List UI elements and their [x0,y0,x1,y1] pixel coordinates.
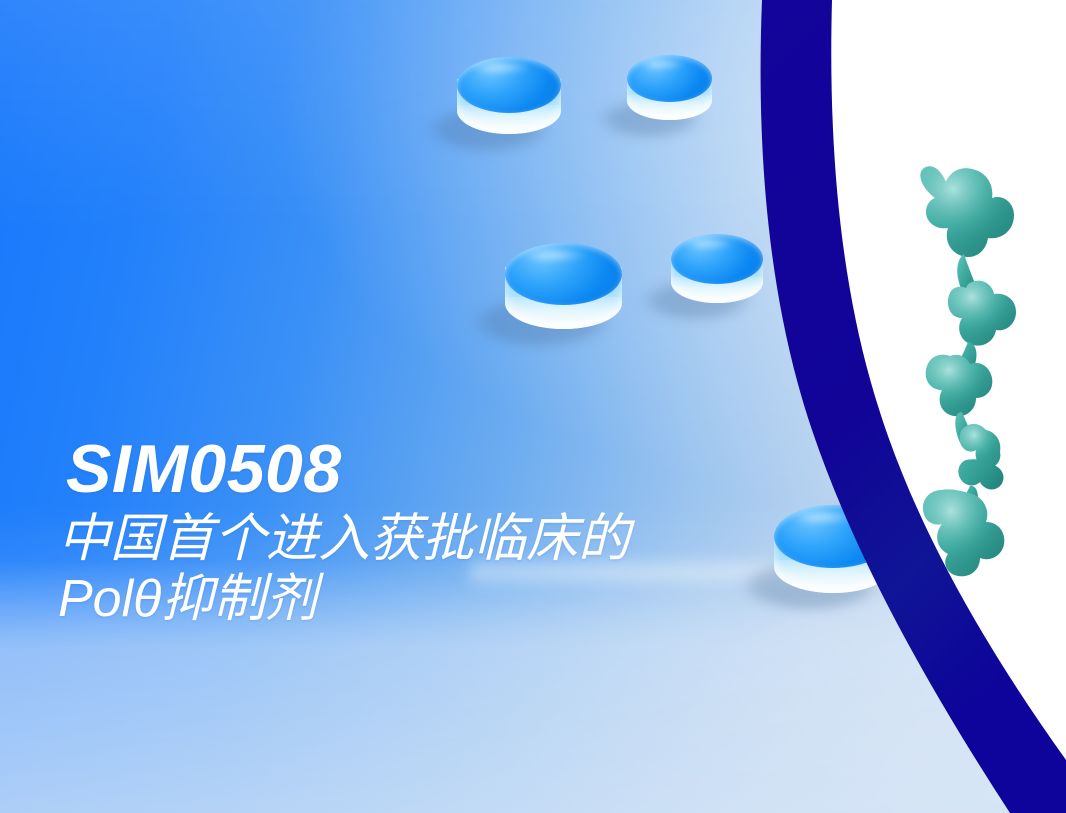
product-name-title: SIM0508 [66,435,878,503]
tablet-top-face [627,55,712,102]
tablet-body [671,234,763,314]
blue-tablet [505,243,622,343]
tablet-highlight [637,58,688,70]
tablet-body [457,57,561,147]
subtitle-line-1: 中国首个进入获批临床的 [58,509,878,569]
blue-tablet [671,234,763,314]
tablet-top-face [457,57,561,113]
tablet-top-face [505,243,622,305]
product-subtitle: 中国首个进入获批临床的 Polθ抑制剂 [58,509,878,630]
tablet-body [627,55,712,130]
tablet-body [505,243,622,343]
blue-tablet [627,55,712,130]
tablet-body [986,628,1066,720]
headline-block: SIM0508 中国首个进入获批临床的 Polθ抑制剂 [58,435,878,630]
tablet-highlight [469,60,531,75]
tablet-top-face [671,234,763,284]
subtitle-line-2: Polθ抑制剂 [58,569,878,629]
tablet-highlight [871,454,923,466]
promotional-poster: SIM0508 中国首个进入获批临床的 Polθ抑制剂 [0,0,1066,813]
tablet-highlight [519,247,589,263]
tablet-highlight [998,631,1060,646]
tablet-highlight [682,237,737,250]
blue-tablet [986,628,1066,720]
blue-tablet [457,57,561,147]
